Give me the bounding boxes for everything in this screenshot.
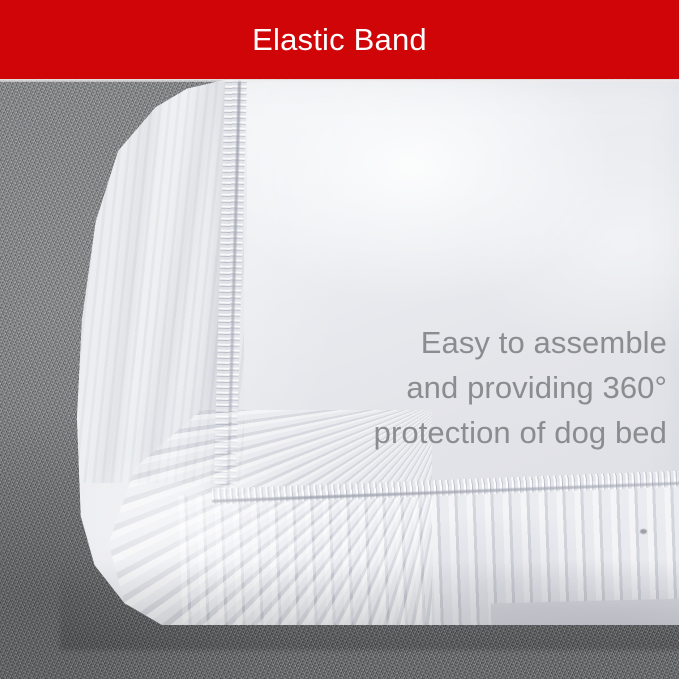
feature-caption: Easy to assemble and providing 360° prot… xyxy=(247,320,667,455)
banner-title: Elastic Band xyxy=(252,24,427,55)
product-image-canvas: Elastic Band Easy to assemble and provid… xyxy=(0,0,679,679)
banner-bottom-edge xyxy=(0,79,679,82)
caption-line-2: and providing 360° xyxy=(247,365,667,410)
caption-line-3: protection of dog bed xyxy=(247,410,667,455)
caption-line-1: Easy to assemble xyxy=(247,320,667,365)
fabric-fleck-icon xyxy=(640,529,647,534)
cover-ground-shadow xyxy=(60,560,679,650)
header-banner: Elastic Band xyxy=(0,0,679,79)
